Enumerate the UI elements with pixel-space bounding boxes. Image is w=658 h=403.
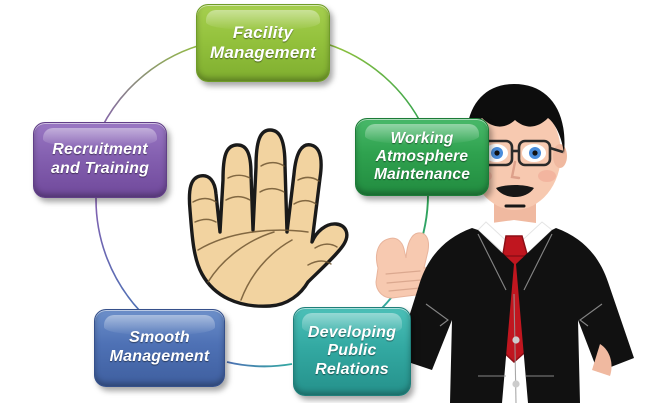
connector-smooth-recruitment <box>96 198 140 311</box>
node-label: Developing Public Relations <box>308 324 396 380</box>
node-working-atmosphere-maintenance[interactable]: Working Atmosphere Maintenance <box>355 118 489 196</box>
jacket-button-top <box>512 336 519 343</box>
node-label: Facility Management <box>210 23 316 62</box>
jacket-button-bottom <box>512 380 519 387</box>
node-facility-management[interactable]: Facility Management <box>196 4 330 82</box>
node-label: Recruitment and Training <box>51 141 149 178</box>
node-smooth-management[interactable]: Smooth Management <box>94 309 225 387</box>
open-palm-hand-icon <box>168 82 358 317</box>
connector-developing-smooth <box>227 362 292 366</box>
node-recruitment-and-training[interactable]: Recruitment and Training <box>33 122 167 198</box>
diagram-canvas: Facility Management Working Atmosphere M… <box>0 0 658 403</box>
node-developing-public-relations[interactable]: Developing Public Relations <box>293 307 411 396</box>
node-label: Smooth Management <box>110 329 210 366</box>
node-label: Working Atmosphere Maintenance <box>374 130 470 184</box>
